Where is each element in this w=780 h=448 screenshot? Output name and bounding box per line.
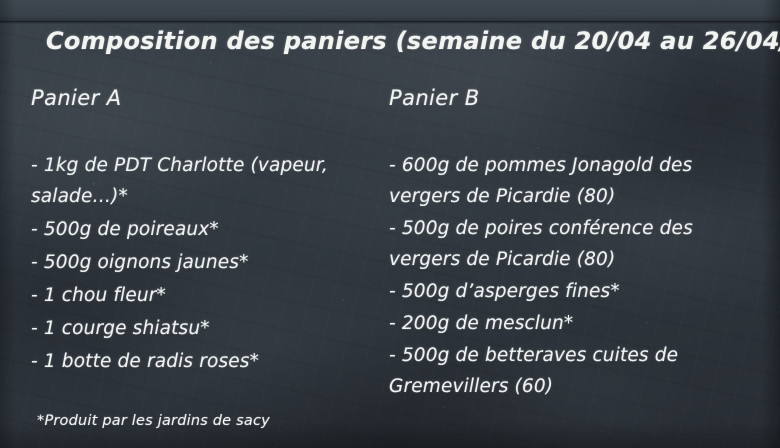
list-item: - 500g d’asperges fines* xyxy=(389,276,759,307)
list-item: - 1 chou fleur* xyxy=(31,280,381,311)
list-item: - 1 courge shiatsu* xyxy=(31,313,381,344)
chalkboard-panel: Composition des paniers (semaine du 20/0… xyxy=(0,0,780,448)
panier-a-heading: Panier A xyxy=(31,86,121,110)
panier-a-list: - 1kg de PDT Charlotte (vapeur, salade…)… xyxy=(31,150,381,379)
list-item: - 1 botte de radis roses* xyxy=(31,346,381,377)
list-item: - 1kg de PDT Charlotte (vapeur, salade…)… xyxy=(31,150,381,212)
list-item: - 500g de poireaux* xyxy=(31,214,381,245)
board-top-rule xyxy=(0,21,780,24)
panier-b-heading: Panier B xyxy=(389,86,480,110)
list-item: - 500g de poires conférence des vergers … xyxy=(389,213,759,275)
footnote: *Produit par les jardins de sacy xyxy=(37,413,270,429)
list-item: - 500g de betteraves cuites de Gremevill… xyxy=(389,340,759,402)
panier-b-list: - 600g de pommes Jonagold des vergers de… xyxy=(389,150,759,403)
list-item: - 500g oignons jaunes* xyxy=(31,247,381,278)
list-item: - 200g de mesclun* xyxy=(389,308,759,339)
page-title: Composition des paniers (semaine du 20/0… xyxy=(46,27,780,55)
board-top-band xyxy=(0,0,780,22)
list-item: - 600g de pommes Jonagold des vergers de… xyxy=(389,150,759,212)
board-right-shadow xyxy=(762,0,780,448)
board-left-shadow xyxy=(0,0,16,448)
